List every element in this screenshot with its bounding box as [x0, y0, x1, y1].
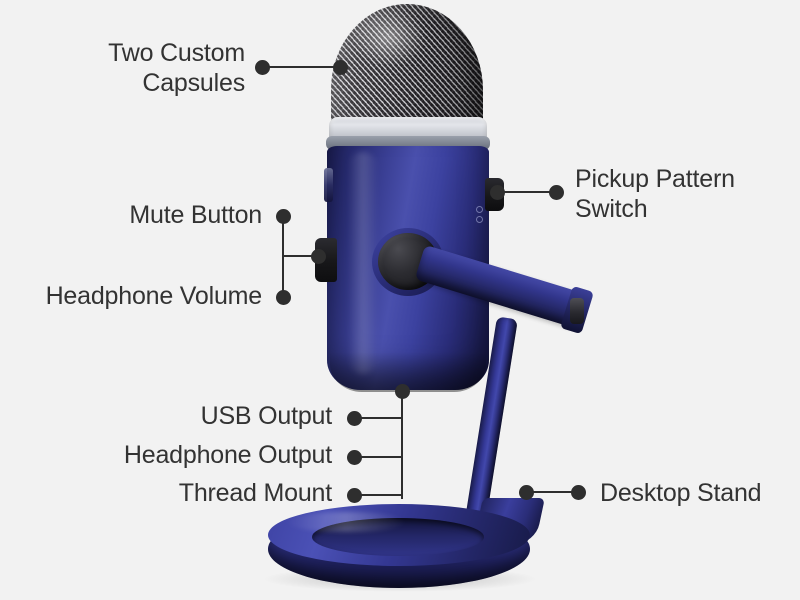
callout-dot-desktop-stand[interactable] [571, 485, 586, 500]
leader-line-thread-mount [354, 494, 403, 496]
callout-anchor-two-custom-capsules[interactable] [333, 60, 348, 75]
callout-dot-pickup-pattern-switch[interactable] [549, 185, 564, 200]
leader-line-two-custom-capsules [262, 66, 340, 68]
grille-shading [331, 4, 483, 132]
leader-line-usb-output [354, 417, 403, 419]
leader-line-headphone-output [354, 456, 403, 458]
body-left-bezel-detail [324, 168, 333, 202]
microphone-illustration [0, 0, 800, 600]
leader-line-pickup-pattern-switch [497, 191, 556, 193]
pattern-print-mark-1 [476, 206, 483, 213]
callout-anchor-mute-headphone[interactable] [311, 249, 326, 264]
yoke-tension-screw[interactable] [570, 298, 584, 324]
leader-bracket-vertical-bottom-ports [401, 391, 403, 499]
desktop-base-highlight [286, 512, 406, 532]
diagram-canvas: Two Custom Capsules Mute Button Headphon… [0, 0, 800, 600]
pattern-print-mark-2 [476, 216, 483, 223]
